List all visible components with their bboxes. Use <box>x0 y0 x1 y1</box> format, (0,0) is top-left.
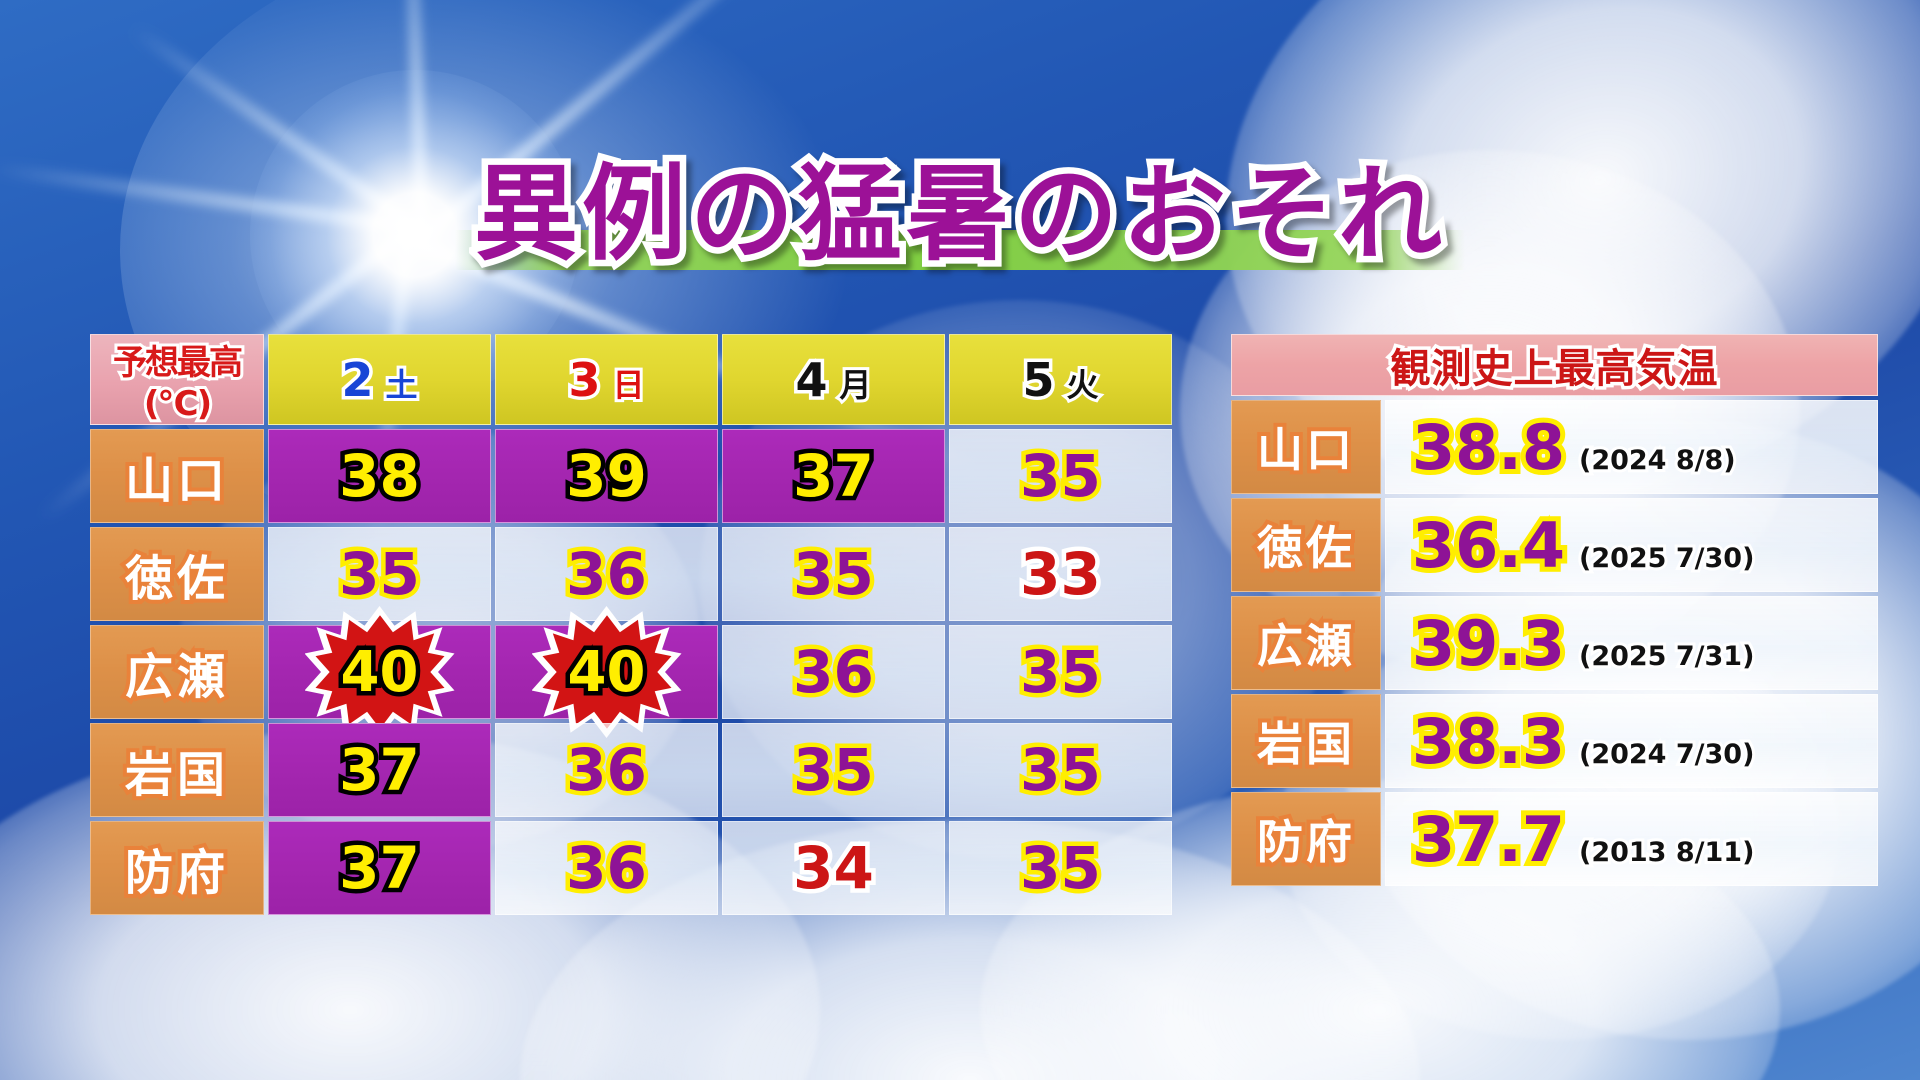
record-city-iwakuni: 岩国 <box>1231 694 1381 788</box>
forecast-cell: 36 <box>495 821 718 915</box>
forecast-value: 35 <box>793 724 874 816</box>
header-day-3-number: 4 <box>795 353 827 407</box>
page-title: 異例の猛暑のおそれ <box>0 150 1920 278</box>
header-day-4-number: 5 <box>1022 353 1054 407</box>
record-table: 観測史上最高気温 山口 38.8 (2024 8/8) 徳佐 36.4 (202… <box>1227 330 1882 890</box>
record-temperature: 36.4 <box>1412 509 1565 582</box>
city-name: 徳佐 <box>1257 521 1355 575</box>
record-cell: 38.8 (2024 8/8) <box>1385 400 1878 494</box>
forecast-value: 39 <box>566 430 647 522</box>
forecast-value: 35 <box>1020 626 1101 718</box>
record-date: (2024 8/8) <box>1579 445 1736 476</box>
city-name: 山口 <box>1257 423 1355 477</box>
record-cell: 38.3 (2024 7/30) <box>1385 694 1878 788</box>
record-date: (2013 8/11) <box>1579 837 1754 868</box>
forecast-cell: 36 <box>722 625 945 719</box>
record-date: (2024 7/30) <box>1579 739 1754 770</box>
forecast-value: 37 <box>339 724 420 816</box>
city-label-hofu: 防府 <box>90 821 264 915</box>
forecast-cell: 35 <box>949 723 1172 817</box>
forecast-value: 35 <box>1020 822 1101 914</box>
header-day-2: 3日 <box>495 334 718 425</box>
city-name: 山口 <box>125 453 229 509</box>
table-row: 岩国 38.3 (2024 7/30) <box>1231 694 1878 788</box>
forecast-value: 38 <box>339 430 420 522</box>
city-name: 広瀬 <box>1257 619 1355 673</box>
header-day-4-weekday: 火 <box>1067 366 1099 404</box>
header-forecast-label-text: 予想最高(℃) <box>113 343 241 424</box>
record-cell: 37.7 (2013 8/11) <box>1385 792 1878 886</box>
forecast-value: 40 <box>305 606 455 738</box>
forecast-value: 36 <box>566 724 647 816</box>
record-temperature: 39.3 <box>1412 607 1565 680</box>
record-date: (2025 7/30) <box>1579 543 1754 574</box>
record-cell: 39.3 (2025 7/31) <box>1385 596 1878 690</box>
record-table-header-text: 観測史上最高気温 <box>1391 346 1719 392</box>
record-header-row: 観測史上最高気温 <box>1231 334 1878 396</box>
forecast-cell: 35 <box>722 723 945 817</box>
table-row: 防府 37 36 34 35 <box>90 821 1172 915</box>
header-day-3-weekday: 月 <box>840 366 872 404</box>
table-row: 徳佐 36.4 (2025 7/30) <box>1231 498 1878 592</box>
table-row: 山口 38 39 37 35 <box>90 429 1172 523</box>
city-name: 岩国 <box>1257 717 1355 771</box>
forecast-value: 34 <box>793 822 874 914</box>
header-day-3: 4月 <box>722 334 945 425</box>
city-name: 広瀬 <box>125 649 229 705</box>
forecast-cell: 33 <box>949 527 1172 621</box>
table-row: 岩国 37 36 35 35 <box>90 723 1172 817</box>
forecast-value: 35 <box>1020 430 1101 522</box>
forecast-value: 35 <box>1020 724 1101 816</box>
record-date: (2025 7/31) <box>1579 641 1754 672</box>
forecast-value: 36 <box>793 626 874 718</box>
city-label-hirose: 広瀬 <box>90 625 264 719</box>
record-city-hirose: 広瀬 <box>1231 596 1381 690</box>
city-name: 徳佐 <box>125 551 229 607</box>
title-area: 異例の猛暑のおそれ <box>0 150 1920 290</box>
forecast-cell: 37 <box>268 723 491 817</box>
city-name: 防府 <box>125 845 229 901</box>
forecast-cell: 34 <box>722 821 945 915</box>
record-temperature: 37.7 <box>1412 803 1565 876</box>
table-row: 山口 38.8 (2024 8/8) <box>1231 400 1878 494</box>
city-name: 岩国 <box>125 747 229 803</box>
header-forecast-label: 予想最高(℃) <box>90 334 264 425</box>
forecast-value: 37 <box>793 430 874 522</box>
forecast-cell: 35 <box>722 527 945 621</box>
forecast-cell: 37 <box>722 429 945 523</box>
forecast-cell: 40 <box>495 625 718 719</box>
header-day-1-number: 2 <box>341 353 373 407</box>
header-day-4: 5火 <box>949 334 1172 425</box>
table-row: 防府 37.7 (2013 8/11) <box>1231 792 1878 886</box>
forecast-value: 37 <box>339 822 420 914</box>
city-label-iwakuni: 岩国 <box>90 723 264 817</box>
city-label-tokusa: 徳佐 <box>90 527 264 621</box>
record-temperature: 38.3 <box>1412 705 1565 778</box>
forecast-cell: 35 <box>949 625 1172 719</box>
forecast-cell: 40 <box>268 625 491 719</box>
forecast-cell: 35 <box>949 429 1172 523</box>
table-header-row: 予想最高(℃) 2土 3日 4月 5火 <box>90 334 1172 425</box>
record-temperature: 38.8 <box>1412 411 1565 484</box>
city-name: 防府 <box>1257 815 1355 869</box>
starburst-highlight-icon: 40 <box>305 606 455 738</box>
table-row: 広瀬 39.3 (2025 7/31) <box>1231 596 1878 690</box>
table-row: 広瀬 40 40 36 35 <box>90 625 1172 719</box>
forecast-value: 35 <box>793 528 874 620</box>
starburst-highlight-icon: 40 <box>532 606 682 738</box>
forecast-table: 予想最高(℃) 2土 3日 4月 5火 山口 38 39 37 35 徳佐 35 <box>86 330 1176 919</box>
record-table-header: 観測史上最高気温 <box>1231 334 1878 396</box>
forecast-cell: 35 <box>949 821 1172 915</box>
header-day-2-number: 3 <box>568 353 600 407</box>
forecast-value: 33 <box>1020 528 1101 620</box>
record-cell: 36.4 (2025 7/30) <box>1385 498 1878 592</box>
forecast-cell: 39 <box>495 429 718 523</box>
header-day-1-weekday: 土 <box>386 366 418 404</box>
forecast-value: 40 <box>532 606 682 738</box>
record-city-hofu: 防府 <box>1231 792 1381 886</box>
city-label-yamaguchi: 山口 <box>90 429 264 523</box>
header-day-2-weekday: 日 <box>613 366 645 404</box>
forecast-cell: 38 <box>268 429 491 523</box>
forecast-cell: 37 <box>268 821 491 915</box>
record-city-yamaguchi: 山口 <box>1231 400 1381 494</box>
record-city-tokusa: 徳佐 <box>1231 498 1381 592</box>
forecast-cell: 36 <box>495 723 718 817</box>
header-day-1: 2土 <box>268 334 491 425</box>
forecast-value: 36 <box>566 822 647 914</box>
